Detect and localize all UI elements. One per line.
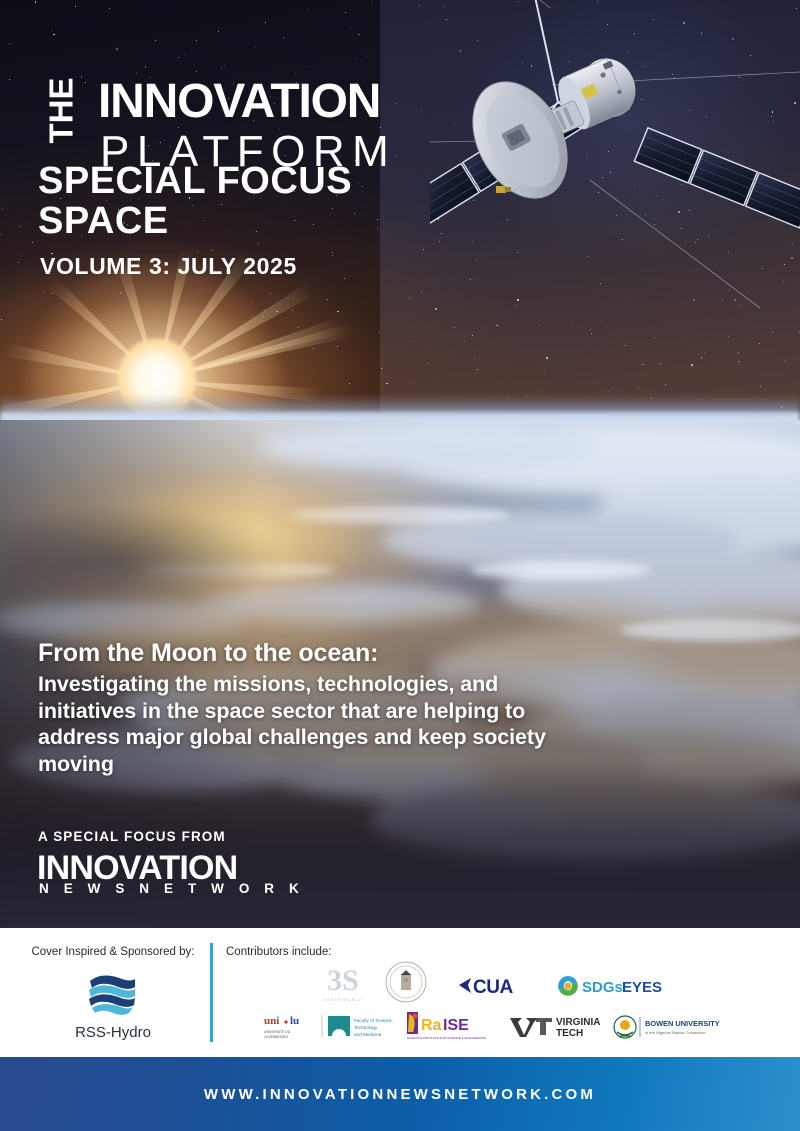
sponsor-divider bbox=[210, 943, 213, 1042]
magazine-cover: THE INNOVATION PLATFORM SPECIAL FOCUS SP… bbox=[0, 0, 800, 1131]
headline-sub: Investigating the missions, technologies… bbox=[38, 671, 558, 777]
special-focus-from-label: A SPECIAL FOCUS FROM bbox=[38, 829, 226, 844]
svg-text:of the Nigerian Baptist Conven: of the Nigerian Baptist Convention bbox=[645, 1030, 706, 1035]
volume-issue-label: VOLUME 3: JULY 2025 bbox=[40, 253, 297, 280]
svg-text:Ra: Ra bbox=[421, 1017, 442, 1034]
contributor-logo-virginia-tech[interactable]: VIRGINIA TECH bbox=[508, 1013, 600, 1039]
headline-main: From the Moon to the ocean: bbox=[38, 638, 558, 669]
rss-hydro-name: RSS-Hydro bbox=[28, 1024, 198, 1041]
svg-text:BOWEN UNIVERSITY: BOWEN UNIVERSITY bbox=[645, 1019, 720, 1028]
contributor-logo-unilu[interactable]: uni lu UNIVERSITE DU LUXEMBOURG bbox=[262, 1012, 314, 1040]
masthead-the: THE bbox=[45, 34, 78, 144]
footer-url-bar: WWW.INNOVATIONNEWSNETWORK.COM bbox=[0, 1057, 800, 1131]
rss-hydro-logo-icon[interactable] bbox=[78, 968, 146, 1022]
svg-text:UNIVERSITE DU: UNIVERSITE DU bbox=[264, 1030, 291, 1034]
svg-text:uni: uni bbox=[264, 1015, 279, 1027]
svg-text:NIGERIAN INSTITUTE FOR SCIENCE: NIGERIAN INSTITUTE FOR SCIENCE & ENGINEE… bbox=[407, 1036, 487, 1040]
svg-text:VIRGINIA: VIRGINIA bbox=[556, 1017, 600, 1028]
svg-text:TECH: TECH bbox=[556, 1028, 583, 1039]
svg-text:SUSTAINABLE: SUSTAINABLE bbox=[323, 998, 362, 1002]
contributor-logo-bowen-university[interactable]: BOWEN UNIVERSITY of the Nigerian Baptist… bbox=[612, 1014, 724, 1040]
contributor-logo-university-seal[interactable] bbox=[384, 960, 428, 1004]
contributor-logo-raise[interactable]: Ra ISE NIGERIAN INSTITUTE FOR SCIENCE & … bbox=[404, 1010, 488, 1042]
svg-text:ISE: ISE bbox=[443, 1017, 469, 1034]
svg-text:EYES: EYES bbox=[622, 979, 662, 996]
svg-text:Technology: Technology bbox=[354, 1025, 378, 1030]
vignette-bottom bbox=[0, 760, 800, 930]
contributor-logo-3s[interactable]: 3S SUSTAINABLE bbox=[312, 960, 374, 1004]
svg-text:CUA: CUA bbox=[473, 977, 513, 998]
contributor-logo-sdgs-eyes[interactable]: SDGs EYES bbox=[556, 974, 666, 998]
footer-url[interactable]: WWW.INNOVATIONNEWSNETWORK.COM bbox=[0, 1057, 800, 1131]
svg-text:and Medicine: and Medicine bbox=[354, 1032, 382, 1037]
contributor-logo-cua[interactable]: CUA bbox=[455, 972, 529, 998]
masthead: THE INNOVATION PLATFORM bbox=[30, 38, 490, 148]
headline-block: From the Moon to the ocean: Investigatin… bbox=[38, 638, 558, 777]
svg-text:SDGs: SDGs bbox=[582, 979, 623, 996]
svg-text:Faculty of Science,: Faculty of Science, bbox=[354, 1018, 393, 1023]
special-focus-label: SPECIAL FOCUS bbox=[38, 160, 352, 202]
svg-text:3S: 3S bbox=[327, 964, 359, 997]
contributor-logo-fstm[interactable]: Faculty of Science, Technology and Medic… bbox=[320, 1012, 396, 1040]
contributors-label: Contributors include: bbox=[226, 946, 331, 958]
svg-text:LUXEMBOURG: LUXEMBOURG bbox=[264, 1035, 288, 1039]
inn-logo-innovation: INNOVATION bbox=[37, 851, 237, 885]
inn-logo-newsnetwork: N E W S N E T W O R K bbox=[39, 882, 304, 896]
special-focus-topic: SPACE bbox=[38, 200, 169, 242]
svg-text:lu: lu bbox=[290, 1015, 299, 1027]
sponsor-label: Cover Inspired & Sponsored by: bbox=[28, 946, 198, 958]
masthead-innovation: INNOVATION bbox=[98, 78, 380, 126]
